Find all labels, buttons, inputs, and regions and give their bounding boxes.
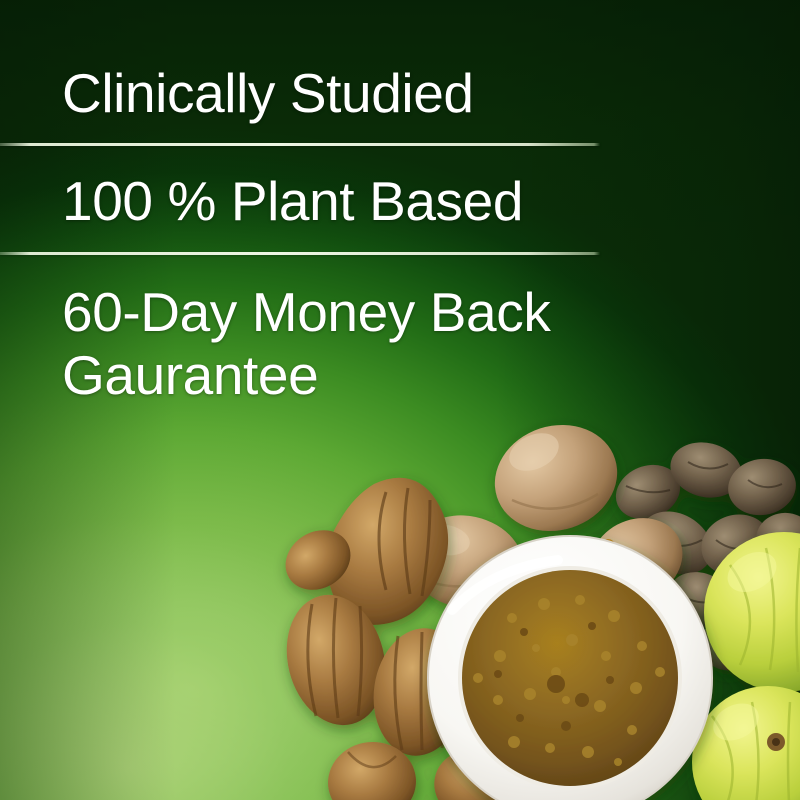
claim-text-plant-based: 100 % Plant Based <box>0 146 620 253</box>
claims-list: Clinically Studied 100 % Plant Based 60-… <box>0 0 620 407</box>
claim-plant-based: 100 % Plant Based <box>0 146 620 253</box>
claim-money-back-guarantee: 60-Day Money Back Gaurantee <box>0 255 620 406</box>
claim-text-money-back-guarantee: 60-Day Money Back Gaurantee <box>0 255 620 406</box>
product-benefits-banner: Clinically Studied 100 % Plant Based 60-… <box>0 0 800 800</box>
claim-text-clinically-studied: Clinically Studied <box>0 0 620 143</box>
claim-clinically-studied: Clinically Studied <box>0 0 620 143</box>
